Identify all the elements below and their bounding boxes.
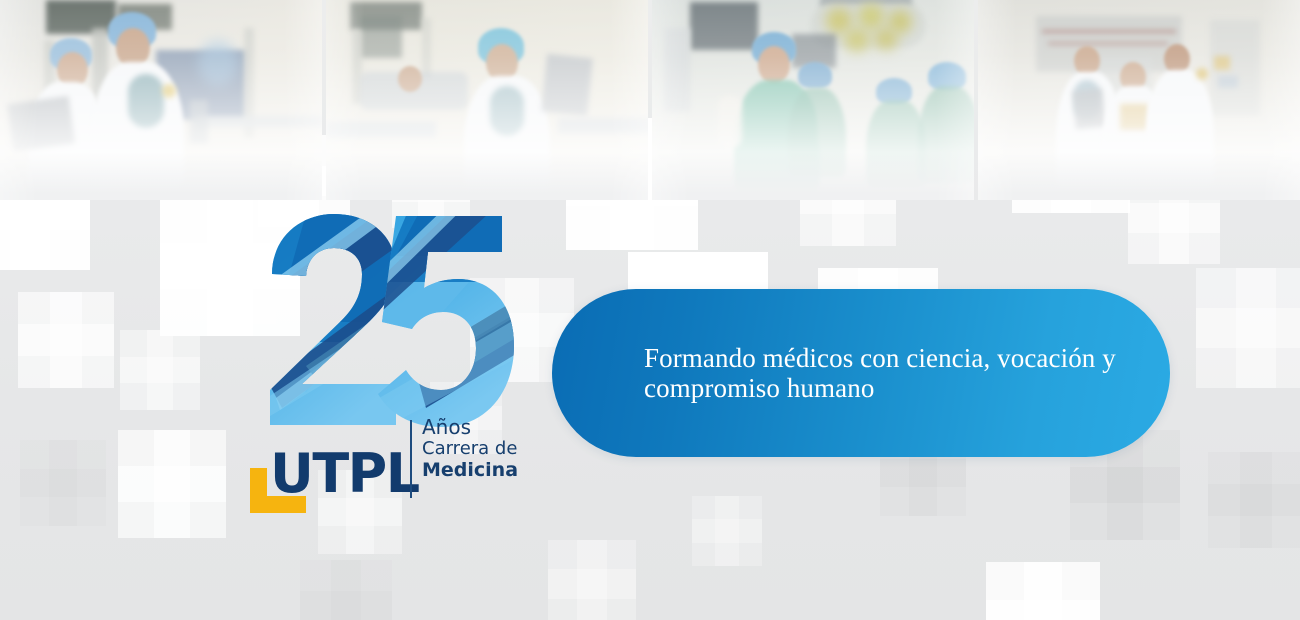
anniversary-number-25 — [266, 212, 514, 427]
plus-cross-icon — [118, 430, 226, 538]
utpl-wordmark: UTPL — [270, 447, 419, 501]
plus-cross-icon — [548, 540, 636, 620]
photo-students-faculty-entrance — [978, 0, 1300, 200]
anniversary-caption-line2: Carrera de — [422, 438, 542, 459]
anniversary-caption: Años Carrera de Medicina — [422, 416, 542, 481]
plus-cross-icon — [986, 562, 1100, 620]
plus-cross-icon — [300, 560, 392, 620]
plus-cross-icon — [20, 440, 106, 526]
anniversary-caption-line1: Años — [422, 416, 542, 438]
photo-student-holding-laptop — [326, 0, 648, 200]
banner-root: UTPL Años Carrera de Medicina Formando m… — [0, 0, 1300, 620]
plus-cross-icon — [1196, 268, 1300, 388]
anniversary-logo: UTPL Años Carrera de Medicina — [248, 212, 518, 512]
logo-divider — [410, 420, 412, 498]
plus-cross-icon — [18, 292, 114, 388]
photo-surgery-room — [652, 0, 974, 200]
plus-cross-icon — [692, 496, 762, 566]
tagline-text: Formando médicos con ciencia, vocación y… — [552, 343, 1170, 403]
photo-students-laptop-ward — [0, 0, 322, 200]
utpl-lockup: UTPL Años Carrera de Medicina — [248, 418, 518, 513]
plus-cross-icon — [120, 330, 200, 410]
plus-cross-icon — [1208, 452, 1300, 548]
anniversary-caption-line3: Medicina — [422, 459, 542, 481]
photo-strip — [0, 0, 1300, 200]
tagline-pill: Formando médicos con ciencia, vocación y… — [552, 289, 1170, 457]
